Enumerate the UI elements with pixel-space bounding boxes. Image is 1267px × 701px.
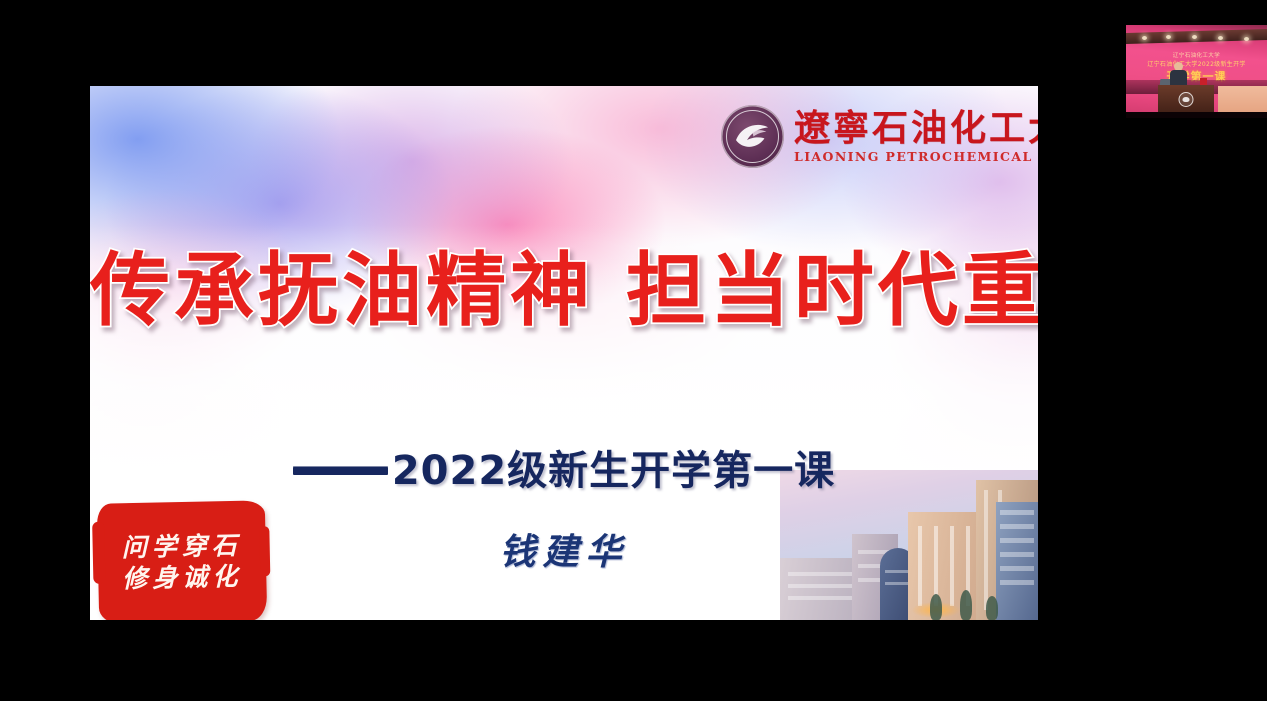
stage-light [1166, 35, 1171, 39]
logo-chinese-name: 遼寧石油化工大學 [794, 110, 1038, 146]
crest-emblem-icon [734, 120, 771, 153]
university-logo: 遼寧石油化工大學 LIAONING PETROCHEMICAL UNIVERSI… [721, 105, 1038, 168]
stage-light [1244, 37, 1249, 41]
stage-light [1192, 35, 1197, 39]
tree [960, 590, 972, 620]
tree [986, 596, 998, 620]
presentation-slide[interactable]: 遼寧石油化工大學 LIAONING PETROCHEMICAL UNIVERSI… [90, 86, 1038, 620]
presenter-webcam-thumbnail[interactable]: 辽宁石油化工大学 辽宁石油化工大学2022级新生开学 开学第一课 [1126, 25, 1267, 118]
slide-subtitle-text: 2022级新生开学第一课 [392, 438, 835, 496]
letterbox-bar [1126, 112, 1267, 118]
stage-light [1218, 36, 1223, 40]
seal-line-2: 修身诚化 [122, 563, 243, 593]
backdrop-text-line-1: 辽宁石油化工大学 [1134, 51, 1259, 59]
em-dash-rule [293, 466, 388, 475]
head-table [1218, 86, 1267, 112]
university-motto-seal: 问学穿石 修身诚化 [97, 500, 267, 620]
university-crest-icon [721, 105, 784, 168]
stage-light [1142, 36, 1147, 40]
tree [930, 594, 942, 620]
seal-line-1: 问学穿石 [121, 532, 242, 562]
lectern-emblem-icon [1179, 92, 1194, 107]
logo-english-name: LIAONING PETROCHEMICAL UNIVERSITY [794, 151, 1038, 164]
backdrop-text-line-2: 辽宁石油化工大学2022级新生开学 [1134, 59, 1259, 68]
slide-headline: 传承抚油精神 担当时代重任 [90, 226, 1038, 342]
screen-share-stage: 遼寧石油化工大學 LIAONING PETROCHEMICAL UNIVERSI… [0, 0, 1267, 701]
slide-subtitle: 2022级新生开学第一课 [90, 438, 1038, 496]
